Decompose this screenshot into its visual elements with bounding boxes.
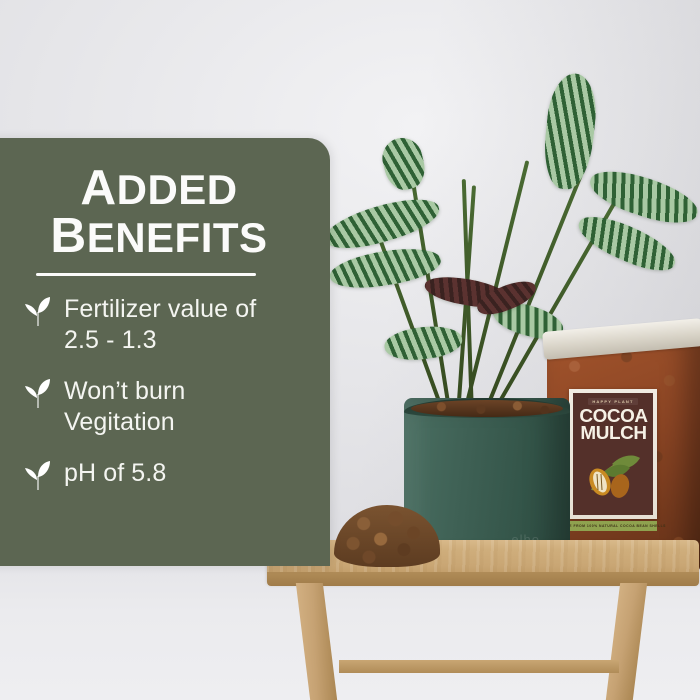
added-benefits-panel: ADDED BENEFITS Fertilizer value of 2.5 -…	[0, 138, 330, 566]
label-title-line2: MULCH	[580, 423, 646, 443]
cocoa-pod-icon	[578, 446, 648, 498]
label-kicker: HAPPY PLANT	[588, 398, 637, 405]
benefit-text-1: Fertilizer value of 2.5 - 1.3	[64, 294, 256, 356]
benefit-text-1-line2: 2.5 - 1.3	[64, 325, 256, 356]
panel-title-line2: BENEFITS	[24, 212, 294, 260]
benefit-text-1-line1: Fertilizer value of	[64, 294, 256, 325]
plant-leaf	[383, 323, 464, 363]
benefit-text-3: pH of 5.8	[64, 458, 166, 489]
plant-leaf	[378, 134, 429, 194]
label-banner-text: MADE FROM 100% NATURAL COCOA BEAN SHELLS	[560, 524, 666, 528]
benefit-text-3-line1: pH of 5.8	[64, 458, 166, 489]
label-banner: MADE FROM 100% NATURAL COCOA BEAN SHELLS	[569, 521, 657, 531]
sprout-icon	[24, 296, 52, 326]
stool-stretcher	[339, 660, 619, 673]
pot-soil-mulch	[411, 400, 563, 417]
product-label: HAPPY PLANT COCOA MULCH	[569, 389, 657, 519]
sprout-icon	[24, 378, 52, 408]
stool-leg-left	[296, 583, 337, 700]
panel-title: ADDED BENEFITS	[24, 164, 308, 259]
stool-leg-right	[606, 583, 647, 700]
benefit-text-2-line2: Vegitation	[64, 407, 185, 438]
panel-title-line1: ADDED	[24, 164, 294, 212]
plant-leaf	[540, 71, 600, 191]
product-photo-scene: HAPPY PLANT COCOA MULCH MADE FROM 100% N…	[0, 0, 700, 700]
sprout-icon	[24, 460, 52, 490]
title-divider	[36, 273, 256, 276]
benefit-item-1: Fertilizer value of 2.5 - 1.3	[24, 294, 308, 356]
benefit-text-2: Won’t burn Vegitation	[64, 376, 185, 438]
benefit-text-2-line1: Won’t burn	[64, 376, 185, 407]
label-title: COCOA MULCH	[579, 408, 647, 442]
benefit-item-3: pH of 5.8	[24, 458, 308, 490]
benefit-item-2: Won’t burn Vegitation	[24, 376, 308, 438]
